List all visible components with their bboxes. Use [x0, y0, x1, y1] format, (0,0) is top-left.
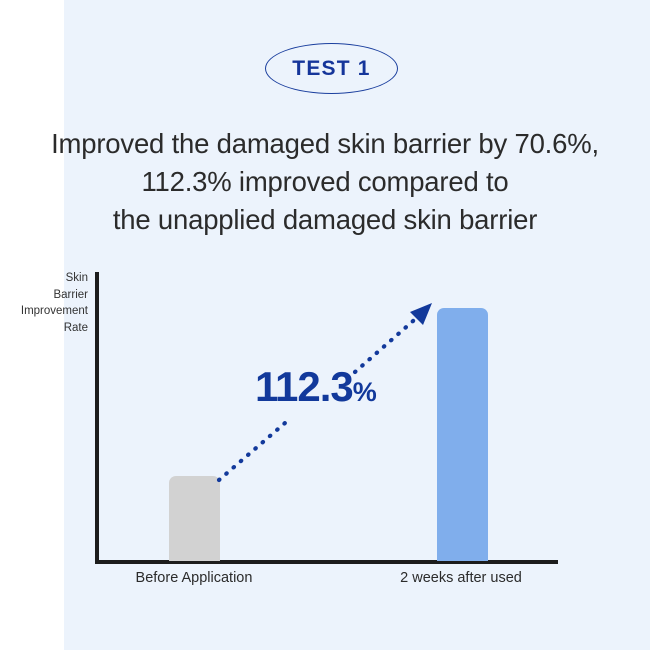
x-tick-label-after-used: 2 weeks after used — [370, 570, 552, 586]
y-axis-line — [95, 272, 99, 564]
y-axis-title: Skin Barrier Improvement Rate — [0, 270, 88, 336]
x-axis-line — [95, 560, 558, 564]
y-axis-title-line-4: Rate — [0, 320, 88, 337]
y-axis-title-line-2: Barrier — [0, 287, 88, 304]
callout-number: 112.3 — [255, 363, 353, 410]
x-tick-label-before-application: Before Application — [104, 570, 284, 586]
callout-percent-sign: % — [353, 377, 377, 407]
bar-before-application — [169, 476, 220, 561]
y-axis-title-line-3: Improvement — [0, 303, 88, 320]
bar-two-weeks-after-used — [437, 308, 488, 561]
y-axis-title-line-1: Skin — [0, 270, 88, 287]
infographic-page: TEST 1 Improved the damaged skin barrier… — [0, 0, 650, 650]
bar-chart: Skin Barrier Improvement Rate Before App… — [0, 0, 650, 650]
increase-callout: 112.3% — [255, 366, 376, 408]
